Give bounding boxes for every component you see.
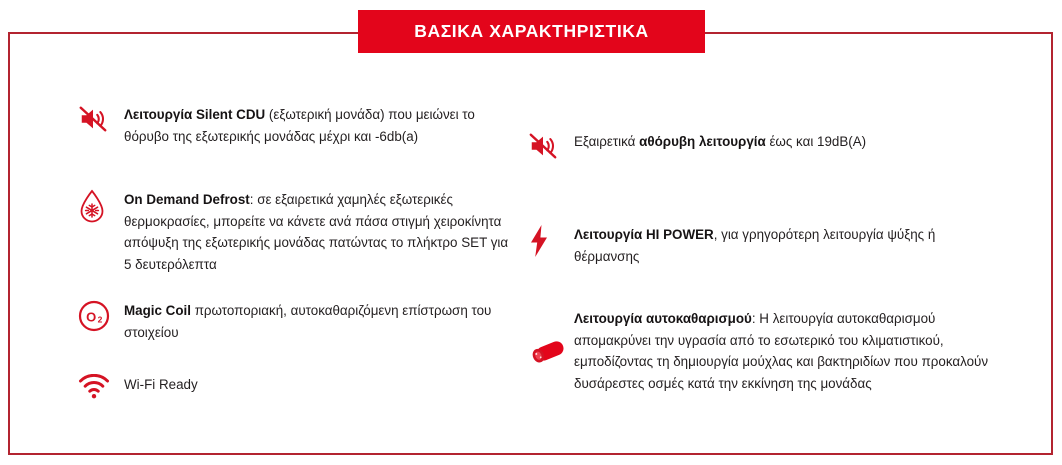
feature-magic-coil-text: Magic Coil πρωτοποριακή, αυτοκαθαριζόμεν…	[124, 300, 518, 343]
section-title-text: ΒΑΣΙΚΑ ΧΑΡΑΚΤΗΡΙΣΤΙΚΑ	[414, 21, 649, 42]
feature-wifi-ready: Wi-Fi Ready	[78, 374, 518, 400]
feature-quiet-operation-post: έως και 19dB(A)	[766, 134, 866, 149]
feature-on-demand-defrost-lead: On Demand Defrost	[124, 192, 250, 207]
feature-quiet-operation-bold: αθόρυβη λειτουργία	[639, 134, 766, 149]
lightning-bolt-icon	[528, 224, 574, 258]
feature-silent-cdu-text: Λειτουργία Silent CDU (εξωτερική μονάδα)…	[124, 104, 518, 147]
feature-self-clean-text: Λειτουργία αυτοκαθαρισμού: Η λειτουργία …	[574, 308, 998, 395]
feature-self-clean: Λειτουργία αυτοκαθαρισμού: Η λειτουργία …	[528, 308, 998, 395]
feature-quiet-operation-pre: Εξαιρετικά	[574, 134, 639, 149]
speaker-mute-icon	[78, 104, 124, 134]
svg-text:2: 2	[98, 315, 103, 325]
feature-highlights-page: ΒΑΣΙΚΑ ΧΑΡΑΚΤΗΡΙΣΤΙΚΑ Λειτουργία Silent …	[0, 0, 1062, 465]
o2-circle-icon: O 2	[78, 300, 124, 332]
section-title-banner: ΒΑΣΙΚΑ ΧΑΡΑΚΤΗΡΙΣΤΙΚΑ	[358, 10, 705, 53]
feature-silent-cdu: Λειτουργία Silent CDU (εξωτερική μονάδα)…	[78, 104, 518, 147]
feature-self-clean-bold: Λειτουργία αυτοκαθαρισμού	[574, 311, 752, 326]
feature-quiet-operation: Εξαιρετικά αθόρυβη λειτουργία έως και 19…	[528, 131, 998, 161]
speaker-mute-icon	[528, 131, 574, 161]
wifi-icon	[78, 374, 124, 400]
svg-text:O: O	[86, 309, 96, 324]
feature-magic-coil: O 2 Magic Coil πρωτοποριακή, αυτοκαθαριζ…	[78, 300, 518, 343]
feature-wifi-ready-text: Wi-Fi Ready	[124, 374, 198, 396]
feature-quiet-operation-text: Εξαιρετικά αθόρυβη λειτουργία έως και 19…	[574, 131, 866, 153]
feature-silent-cdu-lead: Λειτουργία Silent CDU	[124, 107, 265, 122]
droplet-snowflake-icon	[78, 189, 124, 223]
feature-on-demand-defrost: On Demand Defrost: σε εξαιρετικά χαμηλές…	[78, 189, 518, 276]
feature-hi-power-bold: Λειτουργία HI POWER	[574, 227, 714, 242]
feature-on-demand-defrost-text: On Demand Defrost: σε εξαιρετικά χαμηλές…	[124, 189, 518, 276]
feature-hi-power: Λειτουργία HI POWER, για γρηγορότερη λει…	[528, 224, 998, 267]
coil-tube-icon	[528, 335, 574, 367]
feature-magic-coil-lead: Magic Coil	[124, 303, 191, 318]
feature-hi-power-text: Λειτουργία HI POWER, για γρηγορότερη λει…	[574, 224, 998, 267]
